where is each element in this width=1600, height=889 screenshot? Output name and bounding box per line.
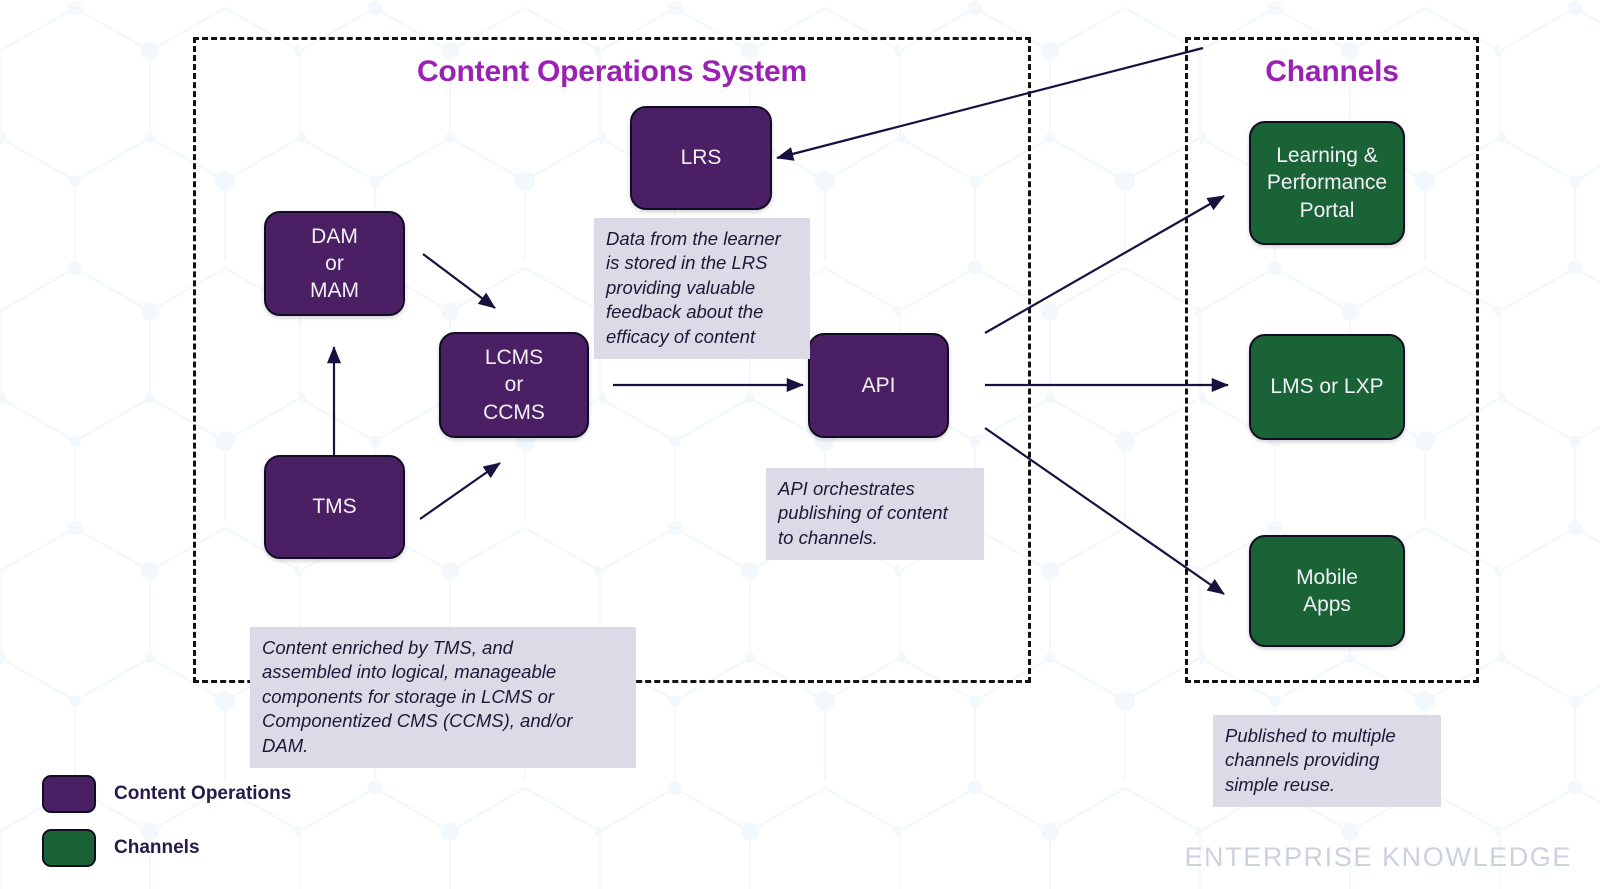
note-tms-enrichment: Content enriched by TMS, and assembled i… (250, 627, 636, 768)
diagram-canvas: Content Operations System Channels (0, 0, 1600, 889)
group-title-content-operations-system: Content Operations System (193, 55, 1031, 89)
node-api[interactable]: API (808, 333, 949, 438)
legend-swatch-channels (42, 829, 96, 867)
node-tms[interactable]: TMS (264, 455, 405, 559)
node-lrs[interactable]: LRS (630, 106, 772, 210)
node-lms-or-lxp[interactable]: LMS or LXP (1249, 334, 1405, 440)
group-title-channels: Channels (1185, 55, 1479, 89)
note-api: API orchestrates publishing of content t… (766, 468, 984, 560)
legend-item-channels: Channels (42, 829, 200, 867)
node-learning-performance-portal[interactable]: Learning & Performance Portal (1249, 121, 1405, 245)
node-dam-or-mam[interactable]: DAM or MAM (264, 211, 405, 316)
note-channels-publishing: Published to multiple channels providing… (1213, 715, 1441, 807)
node-mobile-apps[interactable]: Mobile Apps (1249, 535, 1405, 647)
legend-item-content-operations: Content Operations (42, 775, 291, 813)
note-lrs: Data from the learner is stored in the L… (594, 218, 810, 359)
legend-swatch-content-operations (42, 775, 96, 813)
legend-label-channels: Channels (114, 837, 200, 859)
enterprise-knowledge-wordmark: ENTERPRISE KNOWLEDGE (1184, 842, 1572, 873)
legend-label-content-operations: Content Operations (114, 783, 291, 805)
node-lcms-or-ccms[interactable]: LCMS or CCMS (439, 332, 589, 438)
